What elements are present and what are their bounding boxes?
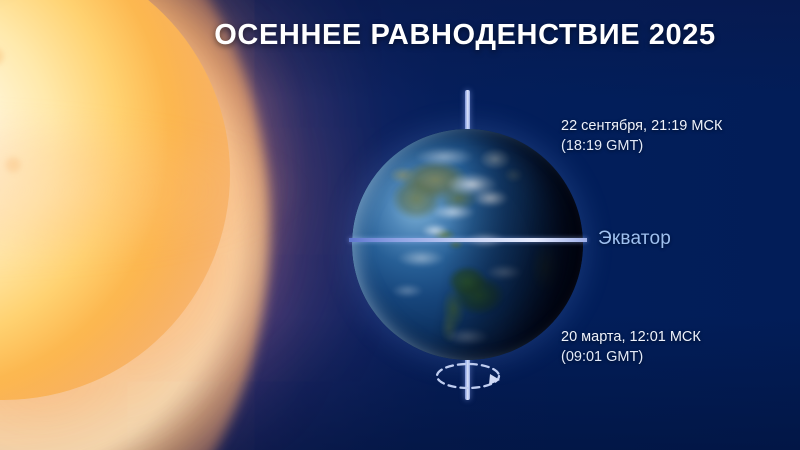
page-title: ОСЕННЕЕ РАВНОДЕНСТВИЕ 2025 — [0, 19, 800, 52]
equator-label: Экватор — [598, 228, 671, 250]
equator-line — [349, 238, 587, 242]
earth-globe — [352, 129, 583, 360]
sun-icon — [0, 0, 270, 450]
callout-spring-equinox: 20 марта, 12:01 МСК (09:01 GMT) — [561, 327, 701, 367]
callout-autumn-line1: 22 сентября, 21:19 МСК — [561, 116, 722, 136]
equinox-infographic: Экватор ОСЕННЕЕ РАВНОДЕНСТВИЕ 2025 22 се… — [0, 0, 800, 450]
earth-atmosphere-limb — [352, 129, 583, 360]
rotation-direction-arrow-icon — [432, 358, 504, 400]
callout-spring-line2: (09:01 GMT) — [561, 347, 701, 367]
callout-autumn-equinox: 22 сентября, 21:19 МСК (18:19 GMT) — [561, 116, 722, 156]
sun-lens-flare — [0, 110, 300, 270]
callout-spring-line1: 20 марта, 12:01 МСК — [561, 327, 701, 347]
callout-autumn-line2: (18:19 GMT) — [561, 136, 722, 156]
